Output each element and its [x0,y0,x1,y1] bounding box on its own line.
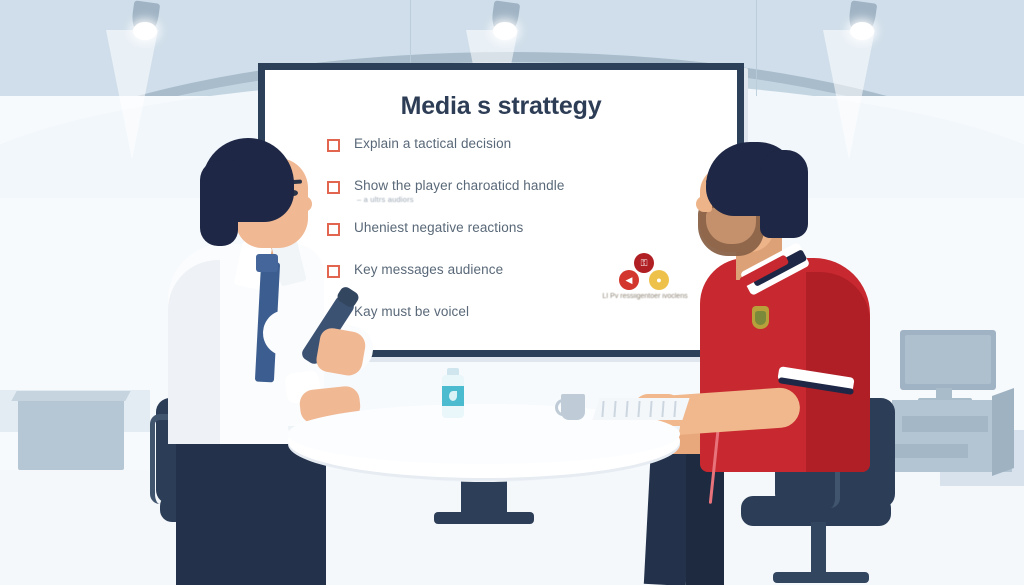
monitor-screen [900,330,996,390]
lock-icon: ⚿ [634,253,654,273]
list-item-label: Kay must be voicel [354,304,469,319]
interviewer-nose [296,196,312,212]
icon-cluster: ⚿ ◀ ● LI Pv ressiigentoer ivoclens [603,253,699,315]
checkbox-icon[interactable] [327,139,340,152]
list-item-subtext: – a ultrs audiors [357,195,414,204]
list-item-label: Key messages audience [354,262,503,277]
team-crest-inner [755,311,766,325]
notepad [592,398,689,420]
megaphone-icon: ◀ [619,270,639,290]
ceiling-divider-line [756,0,757,96]
checkbox-icon[interactable] [327,181,340,194]
interviewer-hair-side [200,160,238,246]
scene-root: Media s strattegy Explain a tactical dec… [0,0,1024,585]
list-item: Show the player charoaticd handle – a ul… [327,180,717,222]
whiteboard-checklist: Explain a tactical decision Show the pla… [327,138,717,348]
bulb-icon: ● [649,270,669,290]
athlete-hair-back [760,150,808,238]
icon-cluster-caption: LI Pv ressiigentoer ivoclens [597,293,693,302]
checkbox-icon[interactable] [327,265,340,278]
list-item-label: Show the player charoaticd handle [354,178,564,193]
whiteboard-title: Media s strattegy [265,92,737,121]
table-foot [434,512,534,524]
interviewer-shirt-shade [168,260,220,444]
interviewer-hand [315,326,368,377]
gray-storage-cabinet [18,398,124,470]
checkbox-icon[interactable] [327,223,340,236]
interviewer-tie-knot [256,254,278,272]
water-bottle [440,368,466,418]
coffee-cup [559,394,587,420]
list-item-label: Uheniest negative reactions [354,220,523,235]
list-item: Explain a tactical decision [327,138,717,180]
list-item-label: Explain a tactical decision [354,136,511,151]
